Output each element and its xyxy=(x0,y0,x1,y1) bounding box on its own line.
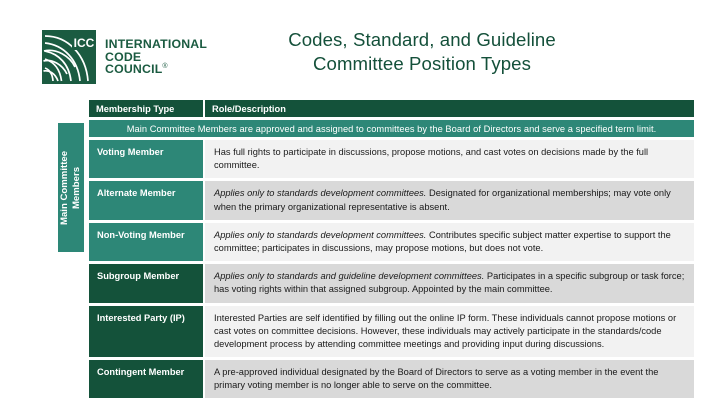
table-row: Subgroup Member Applies only to standard… xyxy=(88,263,695,303)
slide-canvas: ICC INTERNATIONAL CODE COUNCIL® Codes, S… xyxy=(0,0,720,405)
table-row: Contingent Member A pre-approved individ… xyxy=(88,359,695,399)
registered-mark: ® xyxy=(162,63,167,70)
logo-line-3: COUNCIL® xyxy=(105,63,207,76)
row-description-emphasis: Applies only to standards development co… xyxy=(214,230,426,240)
row-description-emphasis: Applies only to standards and guideline … xyxy=(214,271,484,281)
row-description-contingent-member: A pre-approved individual designated by … xyxy=(204,359,695,399)
membership-types-table: Membership Type Role/Description Main Co… xyxy=(88,99,695,399)
row-label-interested-party: Interested Party (IP) xyxy=(88,305,204,359)
table-row: Voting Member Has full rights to partici… xyxy=(88,139,695,179)
logo-line-1: INTERNATIONAL xyxy=(105,38,207,51)
row-label-alternate-member: Alternate Member xyxy=(88,180,204,220)
column-header-membership-type: Membership Type xyxy=(88,99,204,118)
slide-header: ICC INTERNATIONAL CODE COUNCIL® Codes, S… xyxy=(0,0,720,92)
row-description-alternate-member: Applies only to standards development co… xyxy=(204,180,695,220)
title-line-2: Committee Position Types xyxy=(212,52,632,76)
table-intro-row: Main Committee Members are approved and … xyxy=(88,119,695,138)
row-description-emphasis: Applies only to standards development co… xyxy=(214,188,426,198)
side-label-main-committee-members: Main Committee Members xyxy=(57,122,85,253)
svg-text:ICC: ICC xyxy=(74,36,95,50)
icc-logo-wordmark: INTERNATIONAL CODE COUNCIL® xyxy=(105,38,207,76)
side-label-line-2: Members xyxy=(71,150,83,224)
row-label-subgroup-member: Subgroup Member xyxy=(88,263,204,303)
icc-logo: ICC INTERNATIONAL CODE COUNCIL® xyxy=(42,28,200,86)
table-header-row: Membership Type Role/Description xyxy=(88,99,695,118)
table-row: Non-Voting Member Applies only to standa… xyxy=(88,222,695,262)
page-title: Codes, Standard, and Guideline Committee… xyxy=(212,28,632,76)
row-description-interested-party: Interested Parties are self identified b… xyxy=(204,305,695,359)
title-line-1: Codes, Standard, and Guideline xyxy=(212,28,632,52)
row-description-non-voting-member: Applies only to standards development co… xyxy=(204,222,695,262)
icc-globe-logo-icon: ICC xyxy=(42,30,96,84)
row-description-voting-member: Has full rights to participate in discus… xyxy=(204,139,695,179)
table-row: Interested Party (IP) Interested Parties… xyxy=(88,305,695,359)
row-label-non-voting-member: Non-Voting Member xyxy=(88,222,204,262)
side-label-line-1: Main Committee xyxy=(59,150,71,224)
row-description-subgroup-member: Applies only to standards and guideline … xyxy=(204,263,695,303)
column-header-role-description: Role/Description xyxy=(204,99,695,118)
table-row: Alternate Member Applies only to standar… xyxy=(88,180,695,220)
row-label-voting-member: Voting Member xyxy=(88,139,204,179)
row-label-contingent-member: Contingent Member xyxy=(88,359,204,399)
